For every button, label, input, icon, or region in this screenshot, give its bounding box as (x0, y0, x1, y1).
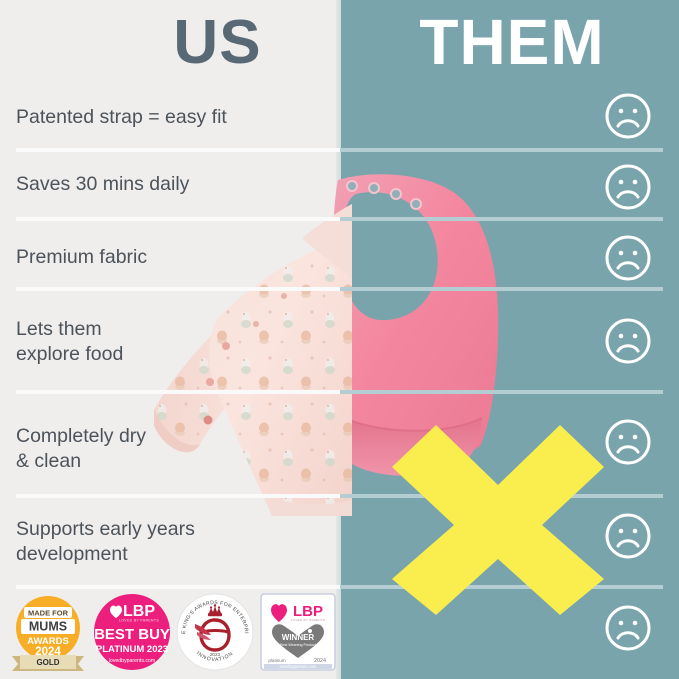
row-divider-right-segment (340, 390, 663, 394)
row-divider-left-segment (16, 148, 340, 152)
sad-face-icon (604, 317, 652, 365)
feature-line: Saves 30 mins daily (16, 172, 276, 197)
feature-row-3: Premium fabric (16, 245, 276, 270)
row-divider-left-segment (16, 390, 340, 394)
row-divider-1 (0, 148, 679, 152)
row-divider-2 (0, 217, 679, 221)
sad-face-icon (604, 163, 652, 211)
row-divider-right-segment (340, 148, 663, 152)
feature-row-4: Lets them explore food (16, 317, 276, 367)
comparison-infographic: US THEM (0, 0, 679, 679)
svg-text:2023: 2023 (210, 652, 221, 657)
us-column-heading: US (110, 12, 325, 74)
row-divider-left-segment (16, 585, 340, 589)
svg-text:lovedbyparents.com: lovedbyparents.com (280, 664, 317, 669)
row-divider-right-segment (340, 217, 663, 221)
feature-row-5: Completely dry & clean (16, 424, 276, 474)
award-badge-lbp-winner-weaning: LBP LOVED BY PARENTS WINNER Best Weaning… (258, 592, 338, 672)
row-divider-left-segment (16, 494, 340, 498)
sad-face-icon (604, 234, 652, 282)
svg-text:Best Weaning Product: Best Weaning Product (280, 643, 316, 647)
feature-line: explore food (16, 342, 276, 367)
row-divider-left-segment (16, 287, 340, 291)
feature-line: Completely dry (16, 424, 276, 449)
feature-row-2: Saves 30 mins daily (16, 172, 276, 197)
feature-row-6: Supports early years development (16, 517, 276, 567)
svg-text:BEST BUY: BEST BUY (94, 626, 170, 643)
feature-row-1: Patented strap = easy fit (16, 105, 276, 130)
svg-text:WINNER: WINNER (282, 633, 315, 642)
row-divider-right-segment (340, 287, 663, 291)
svg-text:LOVED BY PARENTS: LOVED BY PARENTS (291, 618, 326, 622)
row-divider-left-segment (16, 217, 340, 221)
svg-text:LBP: LBP (123, 603, 155, 620)
feature-line: & clean (16, 449, 276, 474)
sad-face-icon (604, 512, 652, 560)
svg-text:lovedbyparents.com: lovedbyparents.com (109, 658, 155, 664)
award-badge-lbp-best-buy: LBP LOVED BY PARENTS BEST BUY PLATINUM 2… (92, 592, 172, 672)
svg-text:LOVED BY PARENTS: LOVED BY PARENTS (119, 619, 159, 623)
svg-text:platinum: platinum (268, 658, 286, 663)
svg-text:MUMS: MUMS (29, 620, 67, 634)
award-badge-kings-awards-enterprise: THE KING'S AWARDS FOR ENTERPRISE INNOVAT… (175, 592, 255, 672)
them-column-heading: THEM (362, 10, 662, 74)
feature-line: development (16, 542, 276, 567)
sad-face-icon (604, 92, 652, 140)
feature-line: Supports early years (16, 517, 276, 542)
row-divider-3 (0, 287, 679, 291)
feature-line: Patented strap = easy fit (16, 105, 276, 130)
badge-line1: MADE FOR (28, 609, 69, 618)
feature-line: Premium fabric (16, 245, 276, 270)
x-cross-icon (392, 425, 604, 615)
sad-face-icon (604, 604, 652, 652)
row-divider-4 (0, 390, 679, 394)
award-badge-made-for-mums: MADE FOR MUMS AWARDS 2024 GOLD (8, 592, 88, 672)
feature-line: Lets them (16, 317, 276, 342)
svg-text:GOLD: GOLD (36, 658, 59, 667)
sad-face-icon (604, 418, 652, 466)
award-badges-row: MADE FOR MUMS AWARDS 2024 GOLD LBP LOVED… (8, 590, 338, 674)
svg-text:PLATINUM 2023: PLATINUM 2023 (96, 644, 168, 655)
